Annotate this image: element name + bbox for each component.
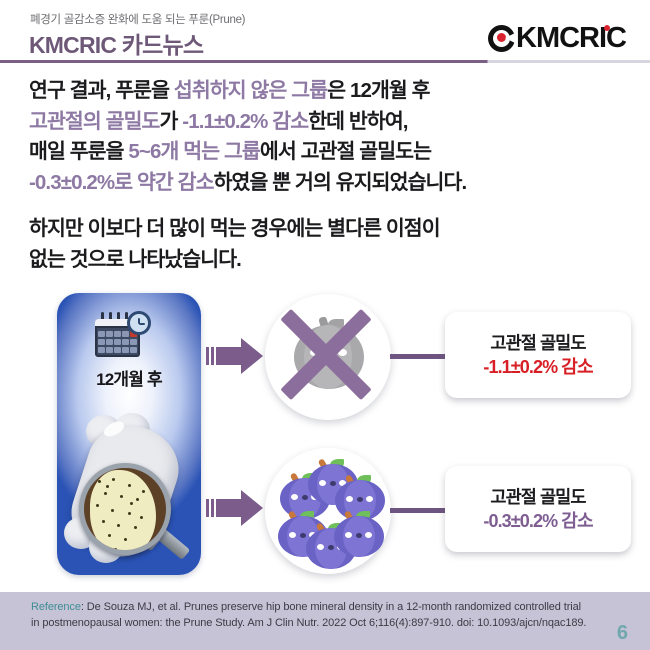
header-divider xyxy=(0,60,650,63)
body-line-4: -0.3±0.2%로 약간 감소하였을 뿐 거의 유지되었습니다. xyxy=(29,168,629,199)
body-text-segment: 에서 고관절 골밀도는 xyxy=(260,140,431,163)
cross-out-icon xyxy=(272,301,380,409)
six-prunes-plate-icon xyxy=(265,448,391,574)
body-line-1: 연구 결과, 푸룬을 섭취하지 않은 그룹은 12개월 후 xyxy=(29,76,629,107)
connector-line xyxy=(390,508,448,513)
result-value: -0.3±0.2% 감소 xyxy=(483,509,592,534)
connector-line xyxy=(390,354,448,359)
slide-footer: Reference: De Souza MJ, et al. Prunes pr… xyxy=(0,592,650,650)
body-line-3: 매일 푸룬을 5~6개 먹는 그룹에서 고관절 골밀도는 xyxy=(29,137,629,168)
arrow-right-icon xyxy=(205,488,267,528)
body-text-highlight: -1.1±0.2% 감소 xyxy=(182,110,308,133)
body-text-highlight: 고관절의 골밀도 xyxy=(29,110,160,133)
body-line-2: 고관절의 골밀도가 -1.1±0.2% 감소한데 반하여, xyxy=(29,107,629,138)
body-text-highlight: 5~6개 먹는 그룹 xyxy=(128,140,259,163)
body-text-highlight: 섭취하지 않은 그룹 xyxy=(174,79,327,102)
logo-wordmark: KMCRIC xyxy=(516,24,626,53)
header-kicker: 폐경기 골감소증 완화에 도움 되는 푸룬(Prune) xyxy=(30,11,245,27)
body-text-segment: 연구 결과, 푸룬을 xyxy=(29,79,174,102)
body-text-segment: 은 12개월 후 xyxy=(327,79,429,102)
calendar-clock-icon xyxy=(95,311,151,359)
logo-i-dot-icon xyxy=(604,25,610,31)
timeline-panel: 12개월 후 xyxy=(57,293,201,575)
body-copy: 연구 결과, 푸룬을 섭취하지 않은 그룹은 12개월 후 고관절의 골밀도가 … xyxy=(29,76,629,275)
body-line-6: 없는 것으로 나타났습니다. xyxy=(29,245,629,276)
illustration-area: 12개월 후 xyxy=(0,288,650,588)
bone-magnifier-icon xyxy=(61,411,197,571)
result-label: 고관절 골밀도 xyxy=(490,331,585,355)
prune-icon xyxy=(334,511,384,557)
timeline-label: 12개월 후 xyxy=(57,365,201,390)
logo-circle-icon xyxy=(488,25,515,52)
slide-header: 폐경기 골감소증 완화에 도움 되는 푸룬(Prune) KMCRIC 카드뉴스… xyxy=(0,0,650,62)
arrow-right-icon xyxy=(205,336,267,376)
reference-citation: : De Souza MJ, et al. Prunes preserve hi… xyxy=(31,601,586,629)
result-card-prune: 고관절 골밀도 -0.3±0.2% 감소 xyxy=(445,466,631,552)
result-card-no-prune: 고관절 골밀도 -1.1±0.2% 감소 xyxy=(445,312,631,398)
body-text-segment: 매일 푸룬을 xyxy=(29,140,128,163)
page-number: 6 xyxy=(617,622,628,645)
card-news-slide: 폐경기 골감소증 완화에 도움 되는 푸룬(Prune) KMCRIC 카드뉴스… xyxy=(0,0,650,650)
clock-icon xyxy=(127,311,151,335)
kmcric-logo: KMCRIC xyxy=(488,23,626,53)
body-text-segment: 하지만 이보다 더 많이 먹는 경우에는 별다른 이점이 xyxy=(29,217,440,240)
reference-text: Reference: De Souza MJ, et al. Prunes pr… xyxy=(31,600,591,631)
body-text-segment: 없는 것으로 나타났습니다. xyxy=(29,248,241,271)
magnifier-icon xyxy=(79,463,183,567)
body-text-segment: 하였을 뿐 거의 유지되었습니다. xyxy=(214,171,467,194)
body-line-5: 하지만 이보다 더 많이 먹는 경우에는 별다른 이점이 xyxy=(29,214,629,245)
body-text-segment: 한데 반하여, xyxy=(308,110,407,133)
page-title: KMCRIC 카드뉴스 xyxy=(29,26,203,60)
reference-label: Reference xyxy=(31,601,81,613)
body-text-highlight: -0.3±0.2%로 약간 감소 xyxy=(29,171,214,194)
result-value: -1.1±0.2% 감소 xyxy=(483,355,592,380)
result-label: 고관절 골밀도 xyxy=(490,485,585,509)
crossed-out-prune-icon xyxy=(265,294,391,420)
body-text-segment: 가 xyxy=(160,110,183,133)
